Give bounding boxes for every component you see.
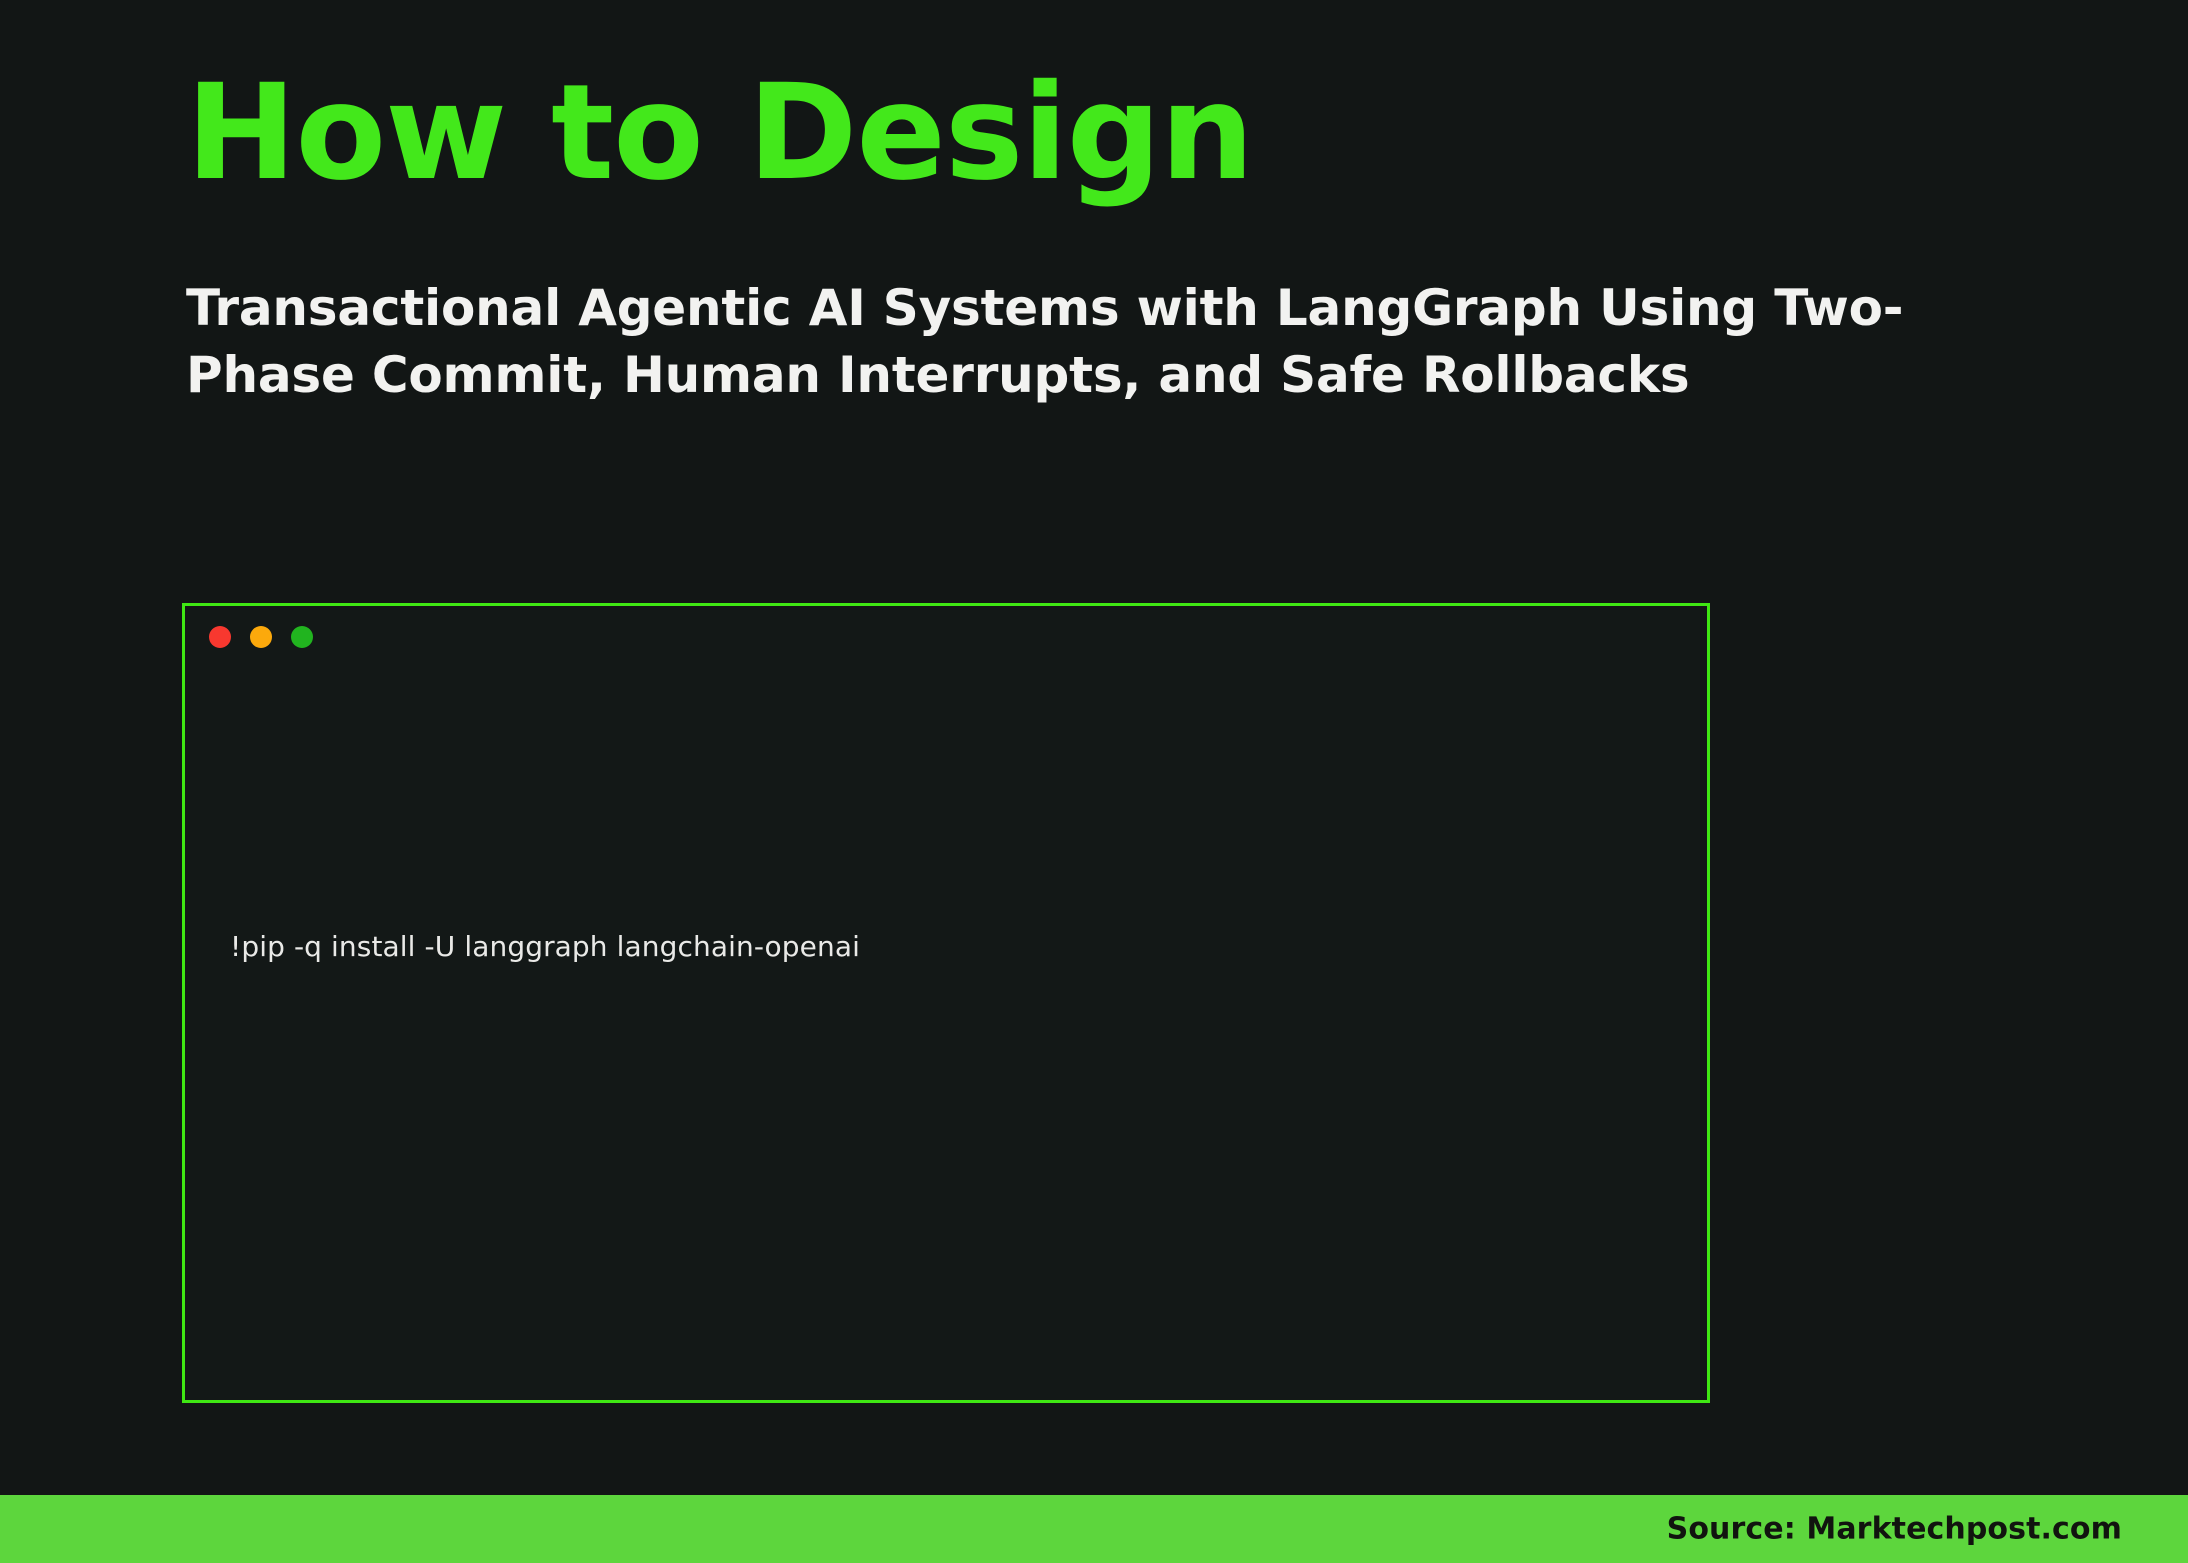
title-block: How to Design: [186, 62, 2086, 205]
window-chrome: [209, 626, 313, 648]
page-title: How to Design: [186, 62, 2086, 205]
minimize-button-icon[interactable]: [250, 626, 272, 648]
code-window: !pip -q install -U langgraph langchain-o…: [182, 603, 1710, 1403]
source-attribution: Source: Marktechpost.com: [1667, 1512, 2122, 1547]
footer-bar: Source: Marktechpost.com: [0, 1495, 2188, 1563]
code-line: !pip -q install -U langgraph langchain-o…: [230, 923, 1687, 970]
close-button-icon[interactable]: [209, 626, 231, 648]
code-blank-lines: [230, 1205, 1687, 1303]
page-subtitle: Transactional Agentic AI Systems with La…: [186, 275, 1966, 408]
code-block[interactable]: !pip -q install -U langgraph langchain-o…: [230, 688, 1687, 1386]
code-group-install: !pip -q install -U langgraph langchain-o…: [230, 829, 1687, 1064]
maximize-button-icon[interactable]: [291, 626, 313, 648]
subtitle-block: Transactional Agentic AI Systems with La…: [186, 275, 1966, 408]
slide-root: How to Design Transactional Agentic AI S…: [0, 0, 2188, 1563]
